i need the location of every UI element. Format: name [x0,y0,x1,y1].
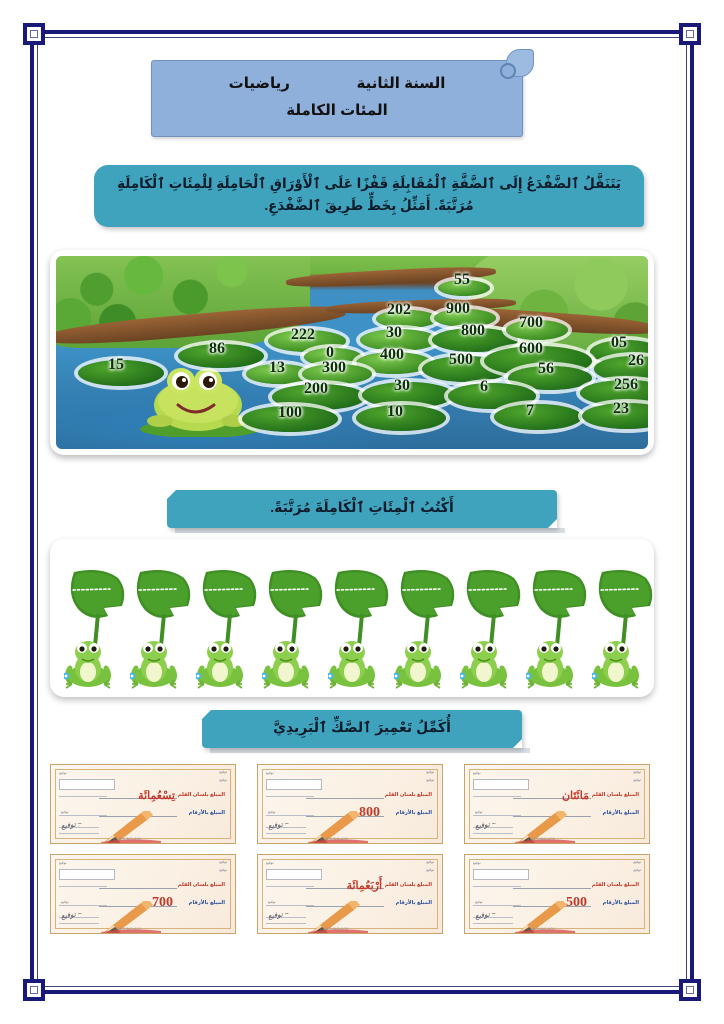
cheque-tiny-label-amount: توقيع [268,900,276,904]
cheque-amount-box[interactable] [59,779,115,790]
cheque-amount-box[interactable] [266,779,322,790]
cheque-tiny-label-topright2: توقيع [219,868,227,872]
answer-slot-3[interactable] [196,564,262,689]
cheque-words-writing-line-6[interactable] [513,888,591,889]
frame-corner-bottom-left-icon [23,979,45,1001]
cheque-mini-line-2 [473,905,521,906]
cheque-amount-words-label-2: المبلغ بلسان القلم [385,792,432,798]
lilypad-number-55: 55 [454,271,470,289]
cheque-tiny-label-topleft: توقيع [59,771,67,775]
cheque-tiny-label-topright2: توقيع [426,778,434,782]
cheque-footer-code: SAMSUNG 000 [320,837,348,841]
cheque-amount-box[interactable] [59,869,115,880]
answer-slot-5[interactable] [328,564,394,689]
cheque-footer-code: SAMSUNG 000 [527,927,555,931]
cheque-tiny-label-topright: توقيع [426,860,434,864]
cheque-tiny-label-topleft: توقيع [59,861,67,865]
lilypad-number-23: 23 [613,400,629,418]
cheque-tiny-label-topright2: توقيع [426,868,434,872]
cheque-amount-words-value-5[interactable]: أَرْبَعُمِائَة [347,879,382,892]
task1-instruction-banner: يَتَنَقَّلُ ٱلضَّفْدَعُ إِلَى ٱلضَّفَّةِ… [94,165,644,227]
cheque-footer-code: SAMSUNG 000 [113,837,141,841]
lilypad-number-400: 400 [380,346,404,364]
cheque-tiny-label-topright2: توقيع [219,778,227,782]
cheque-mini-line-4 [59,833,99,834]
cheque-amount-figures-label-6: المبلغ بالأرقام [603,900,639,906]
pond-scene-card: 5520290030800700222860515040050060026133… [50,250,654,455]
cheque-words-writing-line-2[interactable] [306,798,384,799]
cheque-amount-figures-label-5: المبلغ بالأرقام [396,900,432,906]
cheque-amount-box[interactable] [473,869,529,880]
lilypad-number-15: 15 [108,356,124,374]
cheque-amount-words-label-5: المبلغ بلسان القلم [385,882,432,888]
cheque-mini-line-2 [59,905,107,906]
cheque-amount-box[interactable] [266,869,322,880]
cheque-amount-words-label-3: المبلغ بلسان القلم [592,792,639,798]
cheque-tiny-label-amount: توقيع [475,900,483,904]
lilypad-7[interactable] [494,404,582,430]
lilypad-number-05: 05 [611,334,627,352]
postal-cheque-3[interactable]: توقيعتوقيعتوقيعالمبلغ بلسان القلمالمبلغ … [464,764,650,844]
answer-slot-8[interactable] [526,564,592,689]
cheque-mini-line-2 [59,815,107,816]
lilypad-number-900: 900 [446,300,470,318]
lilypad-number-700: 700 [519,314,543,332]
cheque-amount-words-label-4: المبلغ بلسان القلم [178,882,225,888]
header-ribbon: السنة الثانية رياضيات المئات الكاملة [151,60,523,137]
cheque-amount-words-label-6: المبلغ بلسان القلم [592,882,639,888]
answer-slot-9[interactable] [592,564,658,689]
cheque-words-writing-line-4[interactable] [99,888,177,889]
task3-instruction-banner: أُكَمِّلُ تَعْمِيرَ ٱلصَّكِّ ٱلْبَرِيدِي… [202,710,522,748]
cheque-tiny-label-amount: توقيع [268,810,276,814]
answer-slot-1[interactable] [64,564,130,689]
task2-instruction-banner: أَكْتُبُ ٱلْمِئَاتِ ٱلْكَامِلَةَ مُرَتَّ… [167,490,557,528]
cheque-mini-line-2 [473,815,521,816]
answer-row-card [50,539,654,697]
cheque-tiny-label-topright: توقيع [633,860,641,864]
cheque-tiny-label-topleft: توقيع [266,771,274,775]
cheque-amount-words-value-1[interactable]: تِسْعُمِائَة [138,789,175,802]
cheque-amount-words-value-3[interactable]: مَائَتَان [562,789,589,802]
cheque-mini-line-1 [59,796,107,797]
cheque-mini-line-1 [473,796,521,797]
cheque-amount-figures-label-1: المبلغ بالأرقام [189,810,225,816]
lilypad-number-600: 600 [519,340,543,358]
lilypad-number-6: 6 [480,378,488,396]
cheque-mini-line-2 [266,815,314,816]
worksheet-content: السنة الثانية رياضيات المئات الكاملة يَت… [42,42,682,982]
cheque-tiny-label-amount: توقيع [61,900,69,904]
lilypad-number-30: 30 [386,324,402,342]
lilypad-number-7: 7 [526,402,534,420]
answer-slot-4[interactable] [262,564,328,689]
lilypad-number-222: 222 [291,326,315,344]
header-topic-line: المئات الكاملة [152,101,522,119]
lilypad-number-256: 256 [614,376,638,394]
cheque-footer-code: SAMSUNG 000 [527,837,555,841]
pond-illustration: 5520290030800700222860515040050060026133… [56,256,648,449]
answer-slot-2[interactable] [130,564,196,689]
task3-banner-shadow [210,748,530,753]
cheque-tiny-label-topright: توقيع [633,770,641,774]
lilypad-number-26: 26 [628,352,644,370]
cheque-tiny-label-topleft: توقيع [473,771,481,775]
header-subject-line: السنة الثانية رياضيات [152,74,522,92]
cheque-mini-line-2 [266,905,314,906]
cheque-mini-line-4 [266,833,306,834]
answer-slot-6[interactable] [394,564,460,689]
cheque-mini-line-1 [473,886,521,887]
lilypad-number-300: 300 [322,359,346,377]
lilypad-number-30: 30 [394,377,410,395]
postal-cheque-5[interactable]: توقيعتوقيعتوقيعالمبلغ بلسان القلمالمبلغ … [257,854,443,934]
answer-slot-7[interactable] [460,564,526,689]
cheque-mini-line-4 [473,833,513,834]
postal-cheque-4[interactable]: توقيعتوقيعتوقيعالمبلغ بلسان القلمالمبلغ … [50,854,236,934]
lilypad-number-100: 100 [278,404,302,422]
cheque-amount-box[interactable] [473,779,529,790]
postal-cheque-2[interactable]: توقيعتوقيعتوقيعالمبلغ بلسان القلمالمبلغ … [257,764,443,844]
cheque-tiny-label-topleft: توقيع [266,861,274,865]
lilypad-number-200: 200 [304,380,328,398]
cheque-tiny-label-topright2: توقيع [633,868,641,872]
cheque-tiny-label-amount: توقيع [61,810,69,814]
frame-corner-bottom-right-icon [679,979,701,1001]
task2-banner-shadow [175,528,565,533]
cheque-mini-line-1 [59,886,107,887]
cheque-amount-figures-label-4: المبلغ بالأرقام [189,900,225,906]
cheque-amount-figures-label-3: المبلغ بالأرقام [603,810,639,816]
lilypad-number-800: 800 [461,322,485,340]
cheque-mini-line-4 [59,923,99,924]
cheque-mini-line-4 [266,923,306,924]
cheque-footer-code: SAMSUNG 000 [320,927,348,931]
cheque-footer-code: SAMSUNG 000 [113,927,141,931]
cheque-mini-line-1 [266,796,314,797]
lilypad-number-500: 500 [449,351,473,369]
cheque-tiny-label-topleft: توقيع [473,861,481,865]
cheque-tiny-label-topright: توقيع [426,770,434,774]
postal-cheque-1[interactable]: توقيعتوقيعتوقيعالمبلغ بلسان القلمالمبلغ … [50,764,236,844]
cheque-tiny-label-topright2: توقيع [633,778,641,782]
lilypad-number-202: 202 [387,301,411,319]
cheque-amount-figures-label-2: المبلغ بالأرقام [396,810,432,816]
lilypad-number-86: 86 [209,340,225,358]
lilypad-number-10: 10 [387,403,403,421]
lilypad-number-13: 13 [269,359,285,377]
cheque-amount-words-label-1: المبلغ بلسان القلم [178,792,225,798]
postal-cheque-6[interactable]: توقيعتوقيعتوقيعالمبلغ بلسان القلمالمبلغ … [464,854,650,934]
cheque-mini-line-4 [473,923,513,924]
cheque-mini-line-1 [266,886,314,887]
cheque-tiny-label-topright: توقيع [219,770,227,774]
cheque-tiny-label-amount: توقيع [475,810,483,814]
lilypad-number-56: 56 [538,360,554,378]
frame-corner-top-right-icon [679,23,701,45]
cheque-tiny-label-topright: توقيع [219,860,227,864]
